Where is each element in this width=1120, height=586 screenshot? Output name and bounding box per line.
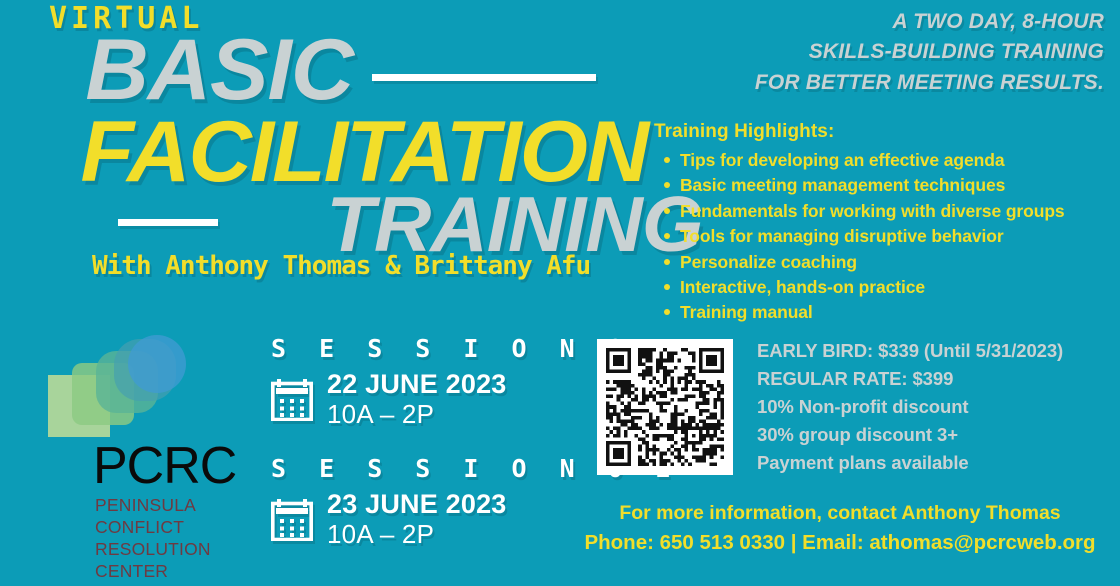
list-item: Fundamentals for working with diverse gr… [680, 199, 1114, 224]
contact-line-2[interactable]: Phone: 650 513 0330 | Email: athomas@pcr… [560, 528, 1120, 557]
price-payment-plans: Payment plans available [757, 449, 1117, 477]
session-02-time: 10A – 2P [327, 521, 507, 548]
calendar-icon [271, 497, 313, 541]
logo-acronym: PCRC [93, 440, 236, 492]
title-line-basic: BASIC [85, 31, 353, 110]
title-rule-bottom [118, 219, 218, 226]
logo-fullname-line-4: CENTER [95, 561, 211, 583]
session-01-date: 22 JUNE 2023 [327, 371, 507, 399]
logo-fullname: PENINSULA CONFLICT RESOLUTION CENTER [95, 495, 211, 583]
session-01-time: 10A – 2P [327, 401, 507, 428]
tagline-line-1: A TWO DAY, 8-HOUR [684, 7, 1104, 37]
calendar-icon [271, 377, 313, 421]
presenters-line: With Anthony Thomas & Brittany Afu [92, 251, 590, 281]
list-item: Basic meeting management techniques [680, 173, 1114, 198]
list-item: Personalize coaching [680, 250, 1114, 275]
price-nonprofit-discount: 10% Non-profit discount [757, 393, 1117, 421]
list-item: Interactive, hands-on practice [680, 275, 1114, 300]
list-item: Tips for developing an effective agenda [680, 148, 1114, 173]
list-item: Tools for managing disruptive behavior [680, 224, 1114, 249]
qr-code-icon[interactable] [597, 339, 733, 475]
poster-canvas: VIRTUAL BASIC FACILITATION TRAINING With… [0, 0, 1120, 586]
logo-fullname-line-3: RESOLUTION [95, 539, 211, 561]
price-regular: REGULAR RATE: $399 [757, 365, 1117, 393]
logo-fullname-line-2: CONFLICT [95, 517, 211, 539]
logo-shape-circle-blue [128, 335, 186, 393]
title-line-training: TRAINING [326, 189, 702, 261]
highlights-title: Training Highlights: [654, 121, 1114, 143]
price-early-bird: EARLY BIRD: $339 (Until 5/31/2023) [757, 337, 1117, 365]
contact-line-1: For more information, contact Anthony Th… [560, 500, 1120, 528]
session-02-date: 23 JUNE 2023 [327, 491, 507, 519]
training-highlights: Training Highlights: Tips for developing… [654, 121, 1114, 326]
tagline: A TWO DAY, 8-HOUR SKILLS-BUILDING TRAINI… [684, 7, 1104, 98]
contact-block: For more information, contact Anthony Th… [560, 500, 1120, 557]
tagline-line-3: FOR BETTER MEETING RESULTS. [684, 68, 1104, 98]
highlights-list: Tips for developing an effective agenda … [654, 148, 1114, 326]
title-rule-top [372, 74, 596, 81]
list-item: Training manual [680, 300, 1114, 325]
pcrc-logo: PCRC PENINSULA CONFLICT RESOLUTION CENTE… [48, 335, 228, 440]
logo-fullname-line-1: PENINSULA [95, 495, 211, 517]
logo-mark-icon [48, 335, 178, 440]
pricing-block: EARLY BIRD: $339 (Until 5/31/2023) REGUL… [757, 337, 1117, 478]
tagline-line-2: SKILLS-BUILDING TRAINING [684, 37, 1104, 67]
price-group-discount: 30% group discount 3+ [757, 421, 1117, 449]
